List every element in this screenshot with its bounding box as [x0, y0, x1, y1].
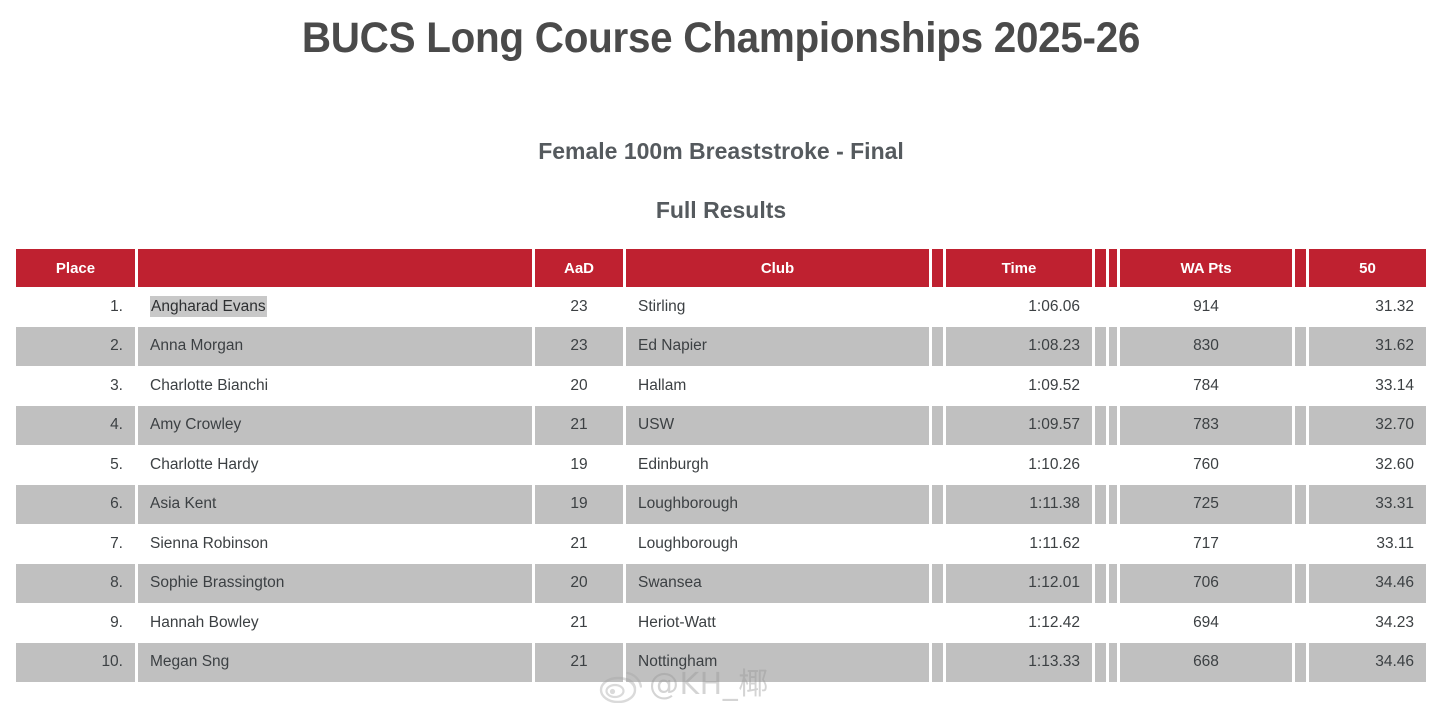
cell-time: 1:09.57 [946, 406, 1095, 446]
cell-place: 5. [16, 445, 138, 485]
cell-50: 34.23 [1309, 603, 1426, 643]
cell-time: 1:10.26 [946, 445, 1095, 485]
cell-spacer-2 [1095, 445, 1109, 485]
cell-50: 33.31 [1309, 485, 1426, 525]
cell-spacer-4 [1295, 524, 1309, 564]
cell-spacer-3 [1109, 445, 1120, 485]
cell-spacer-3 [1109, 327, 1120, 367]
cell-time: 1:09.52 [946, 366, 1095, 406]
cell-club: Loughborough [626, 524, 932, 564]
cell-spacer-2 [1095, 524, 1109, 564]
cell-aad: 21 [535, 524, 626, 564]
cell-place: 9. [16, 603, 138, 643]
cell-wa-pts: 783 [1120, 406, 1295, 446]
page-title: BUCS Long Course Championships 2025-26 [43, 14, 1398, 63]
cell-place: 7. [16, 524, 138, 564]
cell-wa-pts: 706 [1120, 564, 1295, 604]
cell-spacer-2 [1095, 327, 1109, 367]
cell-club: Ed Napier [626, 327, 932, 367]
cell-spacer-2 [1095, 366, 1109, 406]
cell-wa-pts: 725 [1120, 485, 1295, 525]
column-header-spacer-1 [932, 249, 946, 287]
column-header-wa-pts[interactable]: WA Pts [1120, 249, 1295, 287]
cell-name: Megan Sng [138, 643, 535, 683]
column-header-spacer-3 [1109, 249, 1120, 287]
cell-name: Sienna Robinson [138, 524, 535, 564]
cell-time: 1:08.23 [946, 327, 1095, 367]
cell-spacer-4 [1295, 603, 1309, 643]
cell-spacer-4 [1295, 445, 1309, 485]
cell-spacer-4 [1295, 287, 1309, 327]
table-header-row: Place AaD Club Time WA Pts 50 [16, 249, 1426, 287]
cell-spacer-3 [1109, 366, 1120, 406]
cell-name: Anna Morgan [138, 327, 535, 367]
cell-club: Edinburgh [626, 445, 932, 485]
cell-place: 8. [16, 564, 138, 604]
results-table: Place AaD Club Time WA Pts 50 1.Angharad… [16, 249, 1426, 682]
column-header-name[interactable] [138, 249, 535, 287]
section-title: Full Results [0, 197, 1442, 224]
cell-spacer-3 [1109, 524, 1120, 564]
cell-time: 1:12.42 [946, 603, 1095, 643]
cell-aad: 23 [535, 327, 626, 367]
cell-spacer-2 [1095, 406, 1109, 446]
cell-spacer-2 [1095, 485, 1109, 525]
cell-spacer-4 [1295, 327, 1309, 367]
cell-club: Loughborough [626, 485, 932, 525]
cell-aad: 20 [535, 366, 626, 406]
column-header-time[interactable]: Time [946, 249, 1095, 287]
cell-place: 6. [16, 485, 138, 525]
cell-spacer-1 [932, 327, 946, 367]
cell-wa-pts: 914 [1120, 287, 1295, 327]
cell-50: 32.60 [1309, 445, 1426, 485]
cell-spacer-1 [932, 524, 946, 564]
cell-wa-pts: 760 [1120, 445, 1295, 485]
cell-name: Asia Kent [138, 485, 535, 525]
cell-spacer-2 [1095, 603, 1109, 643]
cell-spacer-1 [932, 603, 946, 643]
cell-spacer-1 [932, 564, 946, 604]
cell-50: 31.32 [1309, 287, 1426, 327]
table-row[interactable]: 5.Charlotte Hardy19Edinburgh1:10.2676032… [16, 445, 1426, 485]
event-title: Female 100m Breaststroke - Final [0, 138, 1442, 165]
table-row[interactable]: 3.Charlotte Bianchi20Hallam1:09.5278433.… [16, 366, 1426, 406]
cell-name: Sophie Brassington [138, 564, 535, 604]
table-row[interactable]: 9.Hannah Bowley21Heriot-Watt1:12.4269434… [16, 603, 1426, 643]
cell-spacer-4 [1295, 564, 1309, 604]
cell-spacer-1 [932, 445, 946, 485]
selected-name-highlight[interactable]: Angharad Evans [150, 296, 267, 317]
column-header-place[interactable]: Place [16, 249, 138, 287]
cell-50: 34.46 [1309, 564, 1426, 604]
cell-club: Swansea [626, 564, 932, 604]
table-row[interactable]: 6.Asia Kent19Loughborough1:11.3872533.31 [16, 485, 1426, 525]
cell-spacer-2 [1095, 564, 1109, 604]
cell-spacer-1 [932, 643, 946, 683]
cell-name: Amy Crowley [138, 406, 535, 446]
cell-spacer-4 [1295, 366, 1309, 406]
cell-spacer-1 [932, 366, 946, 406]
cell-place: 2. [16, 327, 138, 367]
cell-time: 1:06.06 [946, 287, 1095, 327]
table-body: 1.Angharad Evans23Stirling1:06.0691431.3… [16, 287, 1426, 682]
cell-aad: 21 [535, 643, 626, 683]
cell-place: 4. [16, 406, 138, 446]
cell-spacer-1 [932, 406, 946, 446]
cell-spacer-4 [1295, 485, 1309, 525]
cell-aad: 23 [535, 287, 626, 327]
column-header-club[interactable]: Club [626, 249, 932, 287]
cell-aad: 21 [535, 406, 626, 446]
table-row[interactable]: 1.Angharad Evans23Stirling1:06.0691431.3… [16, 287, 1426, 327]
cell-wa-pts: 784 [1120, 366, 1295, 406]
cell-spacer-4 [1295, 643, 1309, 683]
cell-spacer-3 [1109, 287, 1120, 327]
cell-place: 1. [16, 287, 138, 327]
cell-50: 32.70 [1309, 406, 1426, 446]
cell-aad: 19 [535, 445, 626, 485]
cell-club: Nottingham [626, 643, 932, 683]
cell-aad: 19 [535, 485, 626, 525]
cell-place: 10. [16, 643, 138, 683]
cell-wa-pts: 830 [1120, 327, 1295, 367]
cell-spacer-3 [1109, 643, 1120, 683]
table-row[interactable]: 2.Anna Morgan23Ed Napier1:08.2383031.62 [16, 327, 1426, 367]
cell-50: 33.14 [1309, 366, 1426, 406]
cell-spacer-2 [1095, 643, 1109, 683]
table-row[interactable]: 7.Sienna Robinson21Loughborough1:11.6271… [16, 524, 1426, 564]
column-header-spacer-2 [1095, 249, 1109, 287]
cell-spacer-4 [1295, 406, 1309, 446]
cell-spacer-3 [1109, 485, 1120, 525]
cell-place: 3. [16, 366, 138, 406]
results-page: BUCS Long Course Championships 2025-26 F… [0, 0, 1442, 719]
cell-50: 31.62 [1309, 327, 1426, 367]
cell-aad: 21 [535, 603, 626, 643]
cell-time: 1:12.01 [946, 564, 1095, 604]
cell-club: USW [626, 406, 932, 446]
cell-club: Stirling [626, 287, 932, 327]
column-header-aad[interactable]: AaD [535, 249, 626, 287]
cell-name: Hannah Bowley [138, 603, 535, 643]
cell-time: 1:13.33 [946, 643, 1095, 683]
cell-wa-pts: 668 [1120, 643, 1295, 683]
cell-spacer-2 [1095, 287, 1109, 327]
cell-spacer-1 [932, 485, 946, 525]
table-row[interactable]: 4.Amy Crowley21USW1:09.5778332.70 [16, 406, 1426, 446]
cell-name: Charlotte Bianchi [138, 366, 535, 406]
table-row[interactable]: 8.Sophie Brassington20Swansea1:12.017063… [16, 564, 1426, 604]
cell-name: Charlotte Hardy [138, 445, 535, 485]
cell-club: Heriot-Watt [626, 603, 932, 643]
cell-wa-pts: 717 [1120, 524, 1295, 564]
cell-spacer-1 [932, 287, 946, 327]
cell-spacer-3 [1109, 564, 1120, 604]
cell-spacer-3 [1109, 603, 1120, 643]
column-header-50[interactable]: 50 [1309, 249, 1426, 287]
cell-time: 1:11.38 [946, 485, 1095, 525]
table-header: Place AaD Club Time WA Pts 50 [16, 249, 1426, 287]
cell-time: 1:11.62 [946, 524, 1095, 564]
cell-50: 34.46 [1309, 643, 1426, 683]
cell-spacer-3 [1109, 406, 1120, 446]
cell-aad: 20 [535, 564, 626, 604]
cell-50: 33.11 [1309, 524, 1426, 564]
cell-club: Hallam [626, 366, 932, 406]
cell-wa-pts: 694 [1120, 603, 1295, 643]
column-header-spacer-4 [1295, 249, 1309, 287]
cell-name: Angharad Evans [138, 287, 535, 327]
table-row[interactable]: 10.Megan Sng21Nottingham1:13.3366834.46 [16, 643, 1426, 683]
